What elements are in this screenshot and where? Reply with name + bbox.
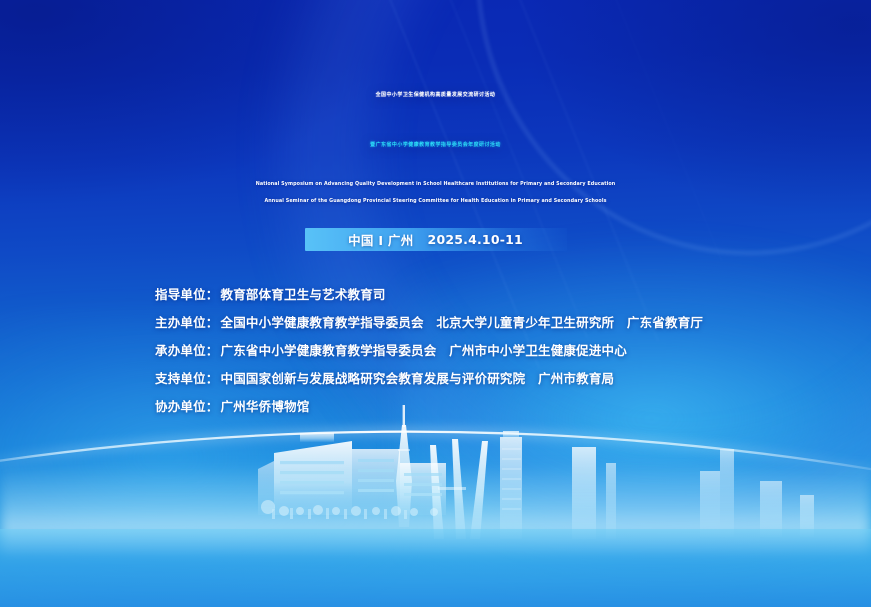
main-title: 全国中小学卫生保健机构高质量发展交流研讨活动 暨广东省中小学健康教育教学指导委员… bbox=[0, 72, 871, 168]
organizer-value: 教育部体育卫生与艺术教育司 bbox=[221, 287, 386, 302]
english-subtitle: National Symposium on Advancing Quality … bbox=[0, 176, 871, 210]
subtitle-line-2: Annual Seminar of the Guangdong Provinci… bbox=[15, 193, 856, 210]
title-line-1: 全国中小学卫生保健机构高质量发展交流研讨活动 bbox=[4, 72, 866, 118]
organizer-label: 主办单位： bbox=[155, 315, 219, 330]
organizer-value: 广东省中小学健康教育教学指导委员会 广州市中小学卫生健康促进中心 bbox=[221, 343, 627, 358]
badge-location: 中国 I 广州 bbox=[348, 230, 413, 249]
title-line-2: 暨广东省中小学健康教育教学指导委员会年度研讨活动 bbox=[4, 122, 866, 168]
subtitle-line-1: National Symposium on Advancing Quality … bbox=[15, 176, 856, 193]
location-date-badge: 中国 I 广州 2025.4.10-11 bbox=[305, 228, 567, 251]
poster-content: 全国中小学卫生保健机构高质量发展交流研讨活动 暨广东省中小学健康教育教学指导委员… bbox=[0, 0, 871, 607]
badge-date: 2025.4.10-11 bbox=[428, 232, 523, 247]
organizer-row: 承办单位：广东省中小学健康教育教学指导委员会 广州市中小学卫生健康促进中心 bbox=[155, 342, 703, 360]
organizer-row: 协办单位：广州华侨博物馆 bbox=[155, 398, 703, 416]
organizer-row: 主办单位：全国中小学健康教育教学指导委员会 北京大学儿童青少年卫生研究所 广东省… bbox=[155, 314, 703, 332]
organizer-label: 指导单位： bbox=[155, 287, 219, 302]
organizer-value: 中国国家创新与发展战略研究会教育发展与评价研究院 广州市教育局 bbox=[221, 371, 615, 386]
organizer-label: 承办单位： bbox=[155, 343, 219, 358]
organizer-row: 支持单位：中国国家创新与发展战略研究会教育发展与评价研究院 广州市教育局 bbox=[155, 370, 703, 388]
organizer-list: 指导单位：教育部体育卫生与艺术教育司 主办单位：全国中小学健康教育教学指导委员会… bbox=[155, 286, 703, 416]
conference-poster: 全国中小学卫生保健机构高质量发展交流研讨活动 暨广东省中小学健康教育教学指导委员… bbox=[0, 0, 871, 607]
organizer-value: 全国中小学健康教育教学指导委员会 北京大学儿童青少年卫生研究所 广东省教育厅 bbox=[221, 315, 704, 330]
organizer-label: 协办单位： bbox=[155, 399, 219, 414]
organizer-label: 支持单位： bbox=[155, 371, 219, 386]
organizer-value: 广州华侨博物馆 bbox=[221, 399, 310, 414]
organizer-row: 指导单位：教育部体育卫生与艺术教育司 bbox=[155, 286, 703, 304]
